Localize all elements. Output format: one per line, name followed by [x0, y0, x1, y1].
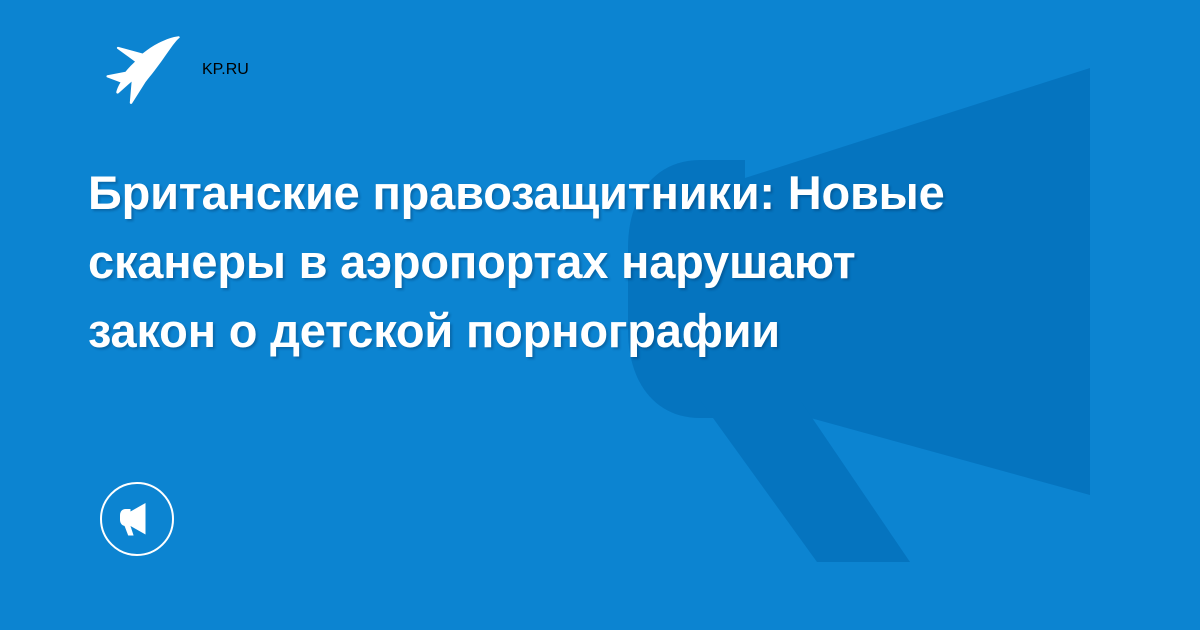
- brand-logo[interactable]: KP.RU: [104, 32, 249, 108]
- megaphone-badge[interactable]: [99, 481, 175, 557]
- share-card: KP.RU Британские правозащитники: Новые с…: [0, 0, 1200, 630]
- megaphone-icon: [99, 481, 175, 557]
- brand-name: KP.RU: [202, 61, 249, 79]
- swallow-bird-icon: [104, 34, 180, 106]
- page-title: Британские правозащитники: Новые сканеры…: [88, 158, 988, 365]
